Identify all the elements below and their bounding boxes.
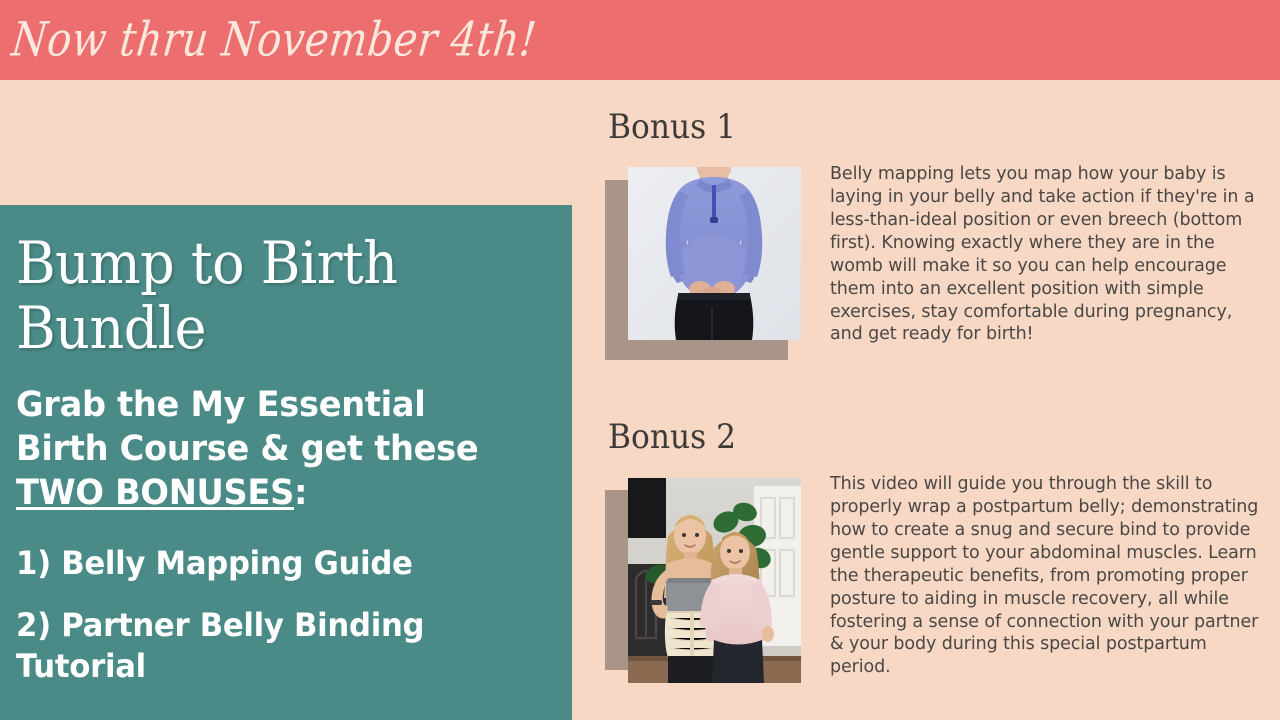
offer-title: Bump to Birth Bundle (16, 231, 513, 361)
promo-banner: Now thru November 4th! (0, 0, 1280, 80)
bonus-2-photo-wrap (605, 478, 835, 698)
bonus-column: Bonus 1 (572, 80, 1280, 720)
belly-binding-demo-photo (628, 478, 801, 683)
bonus-2-description: This video will guide you through the sk… (830, 473, 1260, 679)
offer-bonus-list: 1) Belly Mapping Guide 2) Partner Belly … (16, 543, 550, 688)
list-item: 1) Belly Mapping Guide (16, 543, 529, 585)
offer-subtitle-tail: : (294, 473, 307, 513)
offer-subtitle-lead: Grab the My Essential Birth Course & get… (16, 385, 478, 469)
offer-subtitle: Grab the My Essential Birth Course & get… (16, 383, 529, 515)
pregnant-belly-photo (628, 167, 801, 340)
list-item: 2) Partner Belly Binding Tutorial (16, 605, 529, 688)
bonus-1-description: Belly mapping lets you map how your baby… (830, 163, 1260, 346)
offer-subtitle-emphasis: TWO BONUSES (16, 473, 294, 513)
bonus-2-heading: Bonus 2 (608, 420, 736, 454)
bonus-1-heading: Bonus 1 (608, 110, 736, 144)
bonus-1-photo-wrap (605, 167, 835, 372)
offer-panel: Bump to Birth Bundle Grab the My Essenti… (0, 205, 572, 720)
promo-banner-text: Now thru November 4th! (0, 16, 539, 63)
